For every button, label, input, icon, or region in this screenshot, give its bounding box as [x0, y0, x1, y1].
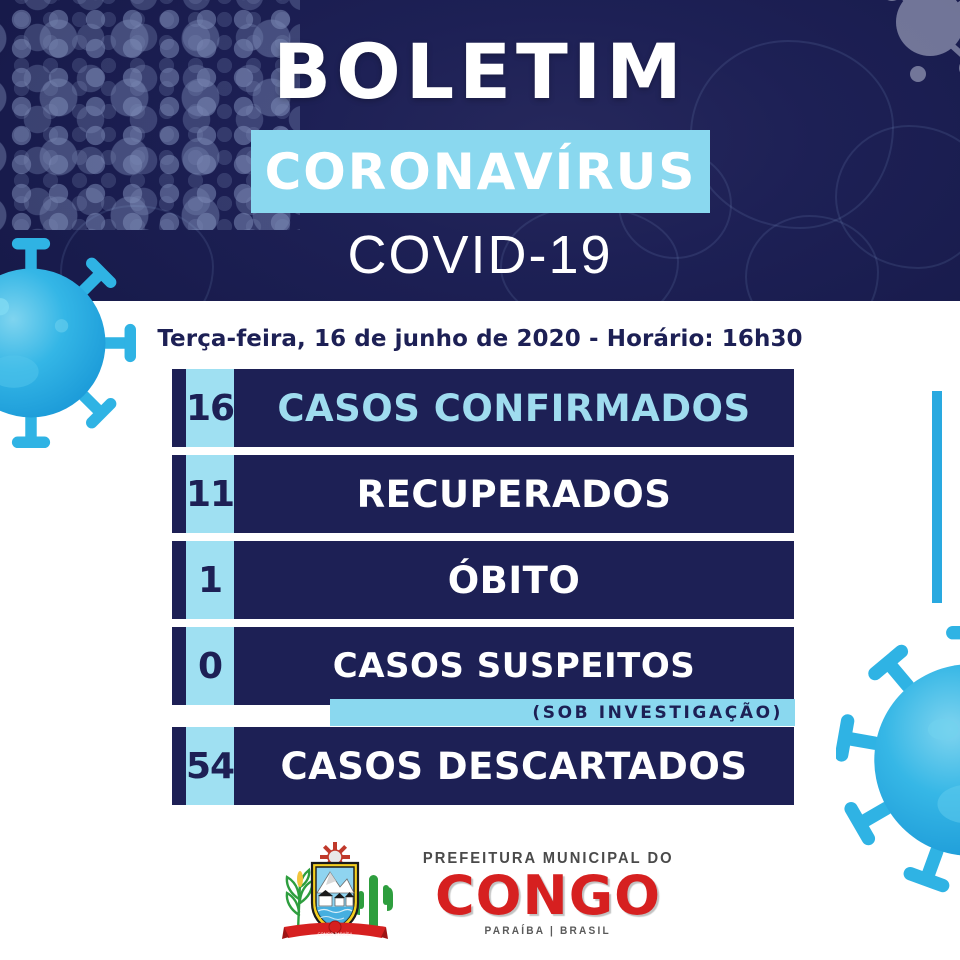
row-edge — [172, 455, 186, 533]
prefecture-label: PREFEITURA MUNICIPAL DO — [423, 850, 674, 868]
row-edge — [172, 541, 186, 619]
covid19-subtitle: COVID-19 — [0, 226, 960, 284]
coronavirus-band: CORONAVÍRUS — [251, 130, 710, 213]
accent-bar — [932, 391, 942, 603]
under-investigation-note: (SOB INVESTIGAÇÃO) — [330, 699, 795, 726]
row-count: 54 — [186, 727, 234, 805]
row-edge — [172, 627, 186, 705]
poster-header: BOLETIM CORONAVÍRUS COVID-19 — [0, 0, 960, 301]
row-body: CASOS SUSPEITOS — [234, 627, 794, 705]
coat-of-arms-icon: CONGO PARAÍBA — [276, 841, 394, 945]
svg-text:CONGO PARAÍBA: CONGO PARAÍBA — [317, 932, 352, 937]
row-label: CASOS SUSPEITOS — [333, 646, 695, 686]
table-row: 1 ÓBITO — [172, 541, 794, 619]
table-row: 11 RECUPERADOS — [172, 455, 794, 533]
row-count: 16 — [186, 369, 234, 447]
row-count: 1 — [186, 541, 234, 619]
covid-bulletin-poster: BOLETIM CORONAVÍRUS COVID-19 — [0, 0, 960, 960]
row-label: CASOS CONFIRMADOS — [277, 387, 750, 430]
bulletin-date: Terça-feira, 16 de junho de 2020 - Horár… — [0, 326, 960, 352]
row-body: RECUPERADOS — [234, 455, 794, 533]
under-investigation-label: (SOB INVESTIGAÇÃO) — [532, 703, 795, 723]
row-edge — [172, 369, 186, 447]
table-row: 54 CASOS DESCARTADOS — [172, 727, 794, 805]
row-edge — [172, 727, 186, 805]
logo-text-block: PREFEITURA MUNICIPAL DO CONGO PARAÍBA | … — [412, 850, 685, 937]
row-count: 11 — [186, 455, 234, 533]
city-name: CONGO — [435, 869, 661, 923]
row-count: 0 — [186, 627, 234, 705]
footer-logo: CONGO PARAÍBA PREFEITURA MUNICIPAL DO CO… — [0, 838, 960, 948]
row-body: CASOS DESCARTADOS — [234, 727, 794, 805]
stats-table: 16 CASOS CONFIRMADOS 11 RECUPERADOS 1 ÓB… — [172, 369, 794, 813]
row-label: ÓBITO — [448, 559, 581, 602]
state-label: PARAÍBA | BRASIL — [485, 925, 611, 937]
page-title: BOLETIM — [0, 31, 960, 113]
row-body: ÓBITO — [234, 541, 794, 619]
row-label: CASOS DESCARTADOS — [281, 745, 748, 788]
coronavirus-label: CORONAVÍRUS — [265, 143, 697, 201]
table-row: 0 CASOS SUSPEITOS — [172, 627, 794, 705]
table-row: 16 CASOS CONFIRMADOS — [172, 369, 794, 447]
row-body: CASOS CONFIRMADOS — [234, 369, 794, 447]
row-label: RECUPERADOS — [357, 473, 672, 516]
